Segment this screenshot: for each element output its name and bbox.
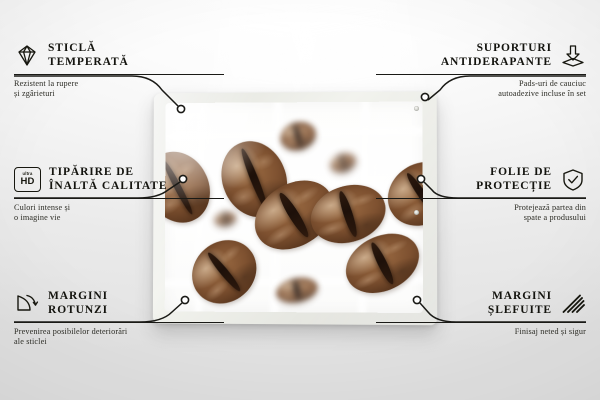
callout-title-line2: ANTIDERAPANTE bbox=[441, 56, 552, 70]
callout-header: ultra HD TIPĂRIRE DE ÎNALTĂ CALITATE bbox=[14, 166, 224, 193]
callout-title-line1: MARGINI bbox=[488, 290, 552, 304]
hatched-edge-icon bbox=[560, 292, 586, 316]
callout-divider bbox=[376, 198, 586, 199]
callout-title-line2: ROTUNZI bbox=[48, 304, 108, 318]
coffee-bean bbox=[328, 150, 359, 176]
callout-header: FOLIE DE PROTECȚIE bbox=[376, 166, 586, 193]
callout-header: MARGINI ROTUNZI bbox=[14, 290, 224, 317]
callout-title-line1: TIPĂRIRE DE bbox=[49, 166, 167, 180]
ultra-hd-icon: ultra HD bbox=[14, 167, 41, 192]
callout-desc-line2: autoadezive incluse în set bbox=[376, 89, 586, 100]
callout-title-line2: TEMPERATĂ bbox=[48, 56, 129, 70]
callout-title-line1: FOLIE DE bbox=[476, 166, 552, 180]
callout-divider bbox=[14, 74, 224, 75]
callout-title-line2: ÎNALTĂ CALITATE bbox=[49, 180, 167, 194]
feature-callout-sanded-edges: MARGINI ȘLEFUITE Finisaj neted și sigur bbox=[376, 290, 586, 337]
callout-title-line1: MARGINI bbox=[48, 290, 108, 304]
callout-desc-line2: și zgârieturi bbox=[14, 89, 224, 100]
callout-title-line2: ȘLEFUITE bbox=[488, 304, 552, 318]
callout-divider bbox=[376, 322, 586, 323]
callout-desc-line1: Pads-uri de cauciuc bbox=[376, 79, 586, 90]
feature-callout-hq-printing: ultra HD TIPĂRIRE DE ÎNALTĂ CALITATE Cul… bbox=[14, 166, 224, 224]
feature-callout-rounded-edges: MARGINI ROTUNZI Prevenirea posibilelor d… bbox=[14, 290, 224, 348]
diamond-icon bbox=[14, 44, 40, 68]
callout-divider bbox=[14, 198, 224, 199]
callout-title-line1: STICLĂ bbox=[48, 42, 129, 56]
feature-callout-protective-film: FOLIE DE PROTECȚIE Protejează partea din… bbox=[376, 166, 586, 224]
callout-header: SUPORTURI ANTIDERAPANTE bbox=[376, 42, 586, 69]
callout-desc-line2: o imagine vie bbox=[14, 213, 224, 224]
rounded-corner-icon bbox=[14, 292, 40, 316]
shield-check-icon bbox=[560, 168, 586, 192]
arrow-down-pad-icon bbox=[560, 44, 586, 68]
infographic-canvas: STICLĂ TEMPERATĂ Rezistent la rupere și … bbox=[0, 0, 600, 400]
mounting-hole bbox=[414, 106, 419, 111]
callout-desc-line1: Protejează partea din bbox=[376, 203, 586, 214]
callout-desc-line2: spate a produsului bbox=[376, 213, 586, 224]
feature-callout-anti-slip-pads: SUPORTURI ANTIDERAPANTE Pads-uri de cauc… bbox=[376, 42, 586, 100]
callout-desc-line1: Finisaj neted și sigur bbox=[376, 327, 586, 338]
callout-divider bbox=[14, 322, 224, 323]
callout-title-line1: SUPORTURI bbox=[441, 42, 552, 56]
callout-desc-line1: Prevenirea posibilelor deteriorări bbox=[14, 327, 224, 338]
callout-header: MARGINI ȘLEFUITE bbox=[376, 290, 586, 317]
ultra-hd-icon-big-text: HD bbox=[21, 177, 35, 187]
feature-callout-tempered-glass: STICLĂ TEMPERATĂ Rezistent la rupere și … bbox=[14, 42, 224, 100]
callout-divider bbox=[376, 74, 586, 75]
callout-title-line2: PROTECȚIE bbox=[476, 180, 552, 194]
sparkle-icon bbox=[175, 109, 201, 135]
callout-desc-line2: ale sticlei bbox=[14, 337, 224, 348]
callout-header: STICLĂ TEMPERATĂ bbox=[14, 42, 224, 69]
callout-desc-line1: Rezistent la rupere bbox=[14, 79, 224, 90]
callout-desc-line1: Culori intense și bbox=[14, 203, 224, 214]
